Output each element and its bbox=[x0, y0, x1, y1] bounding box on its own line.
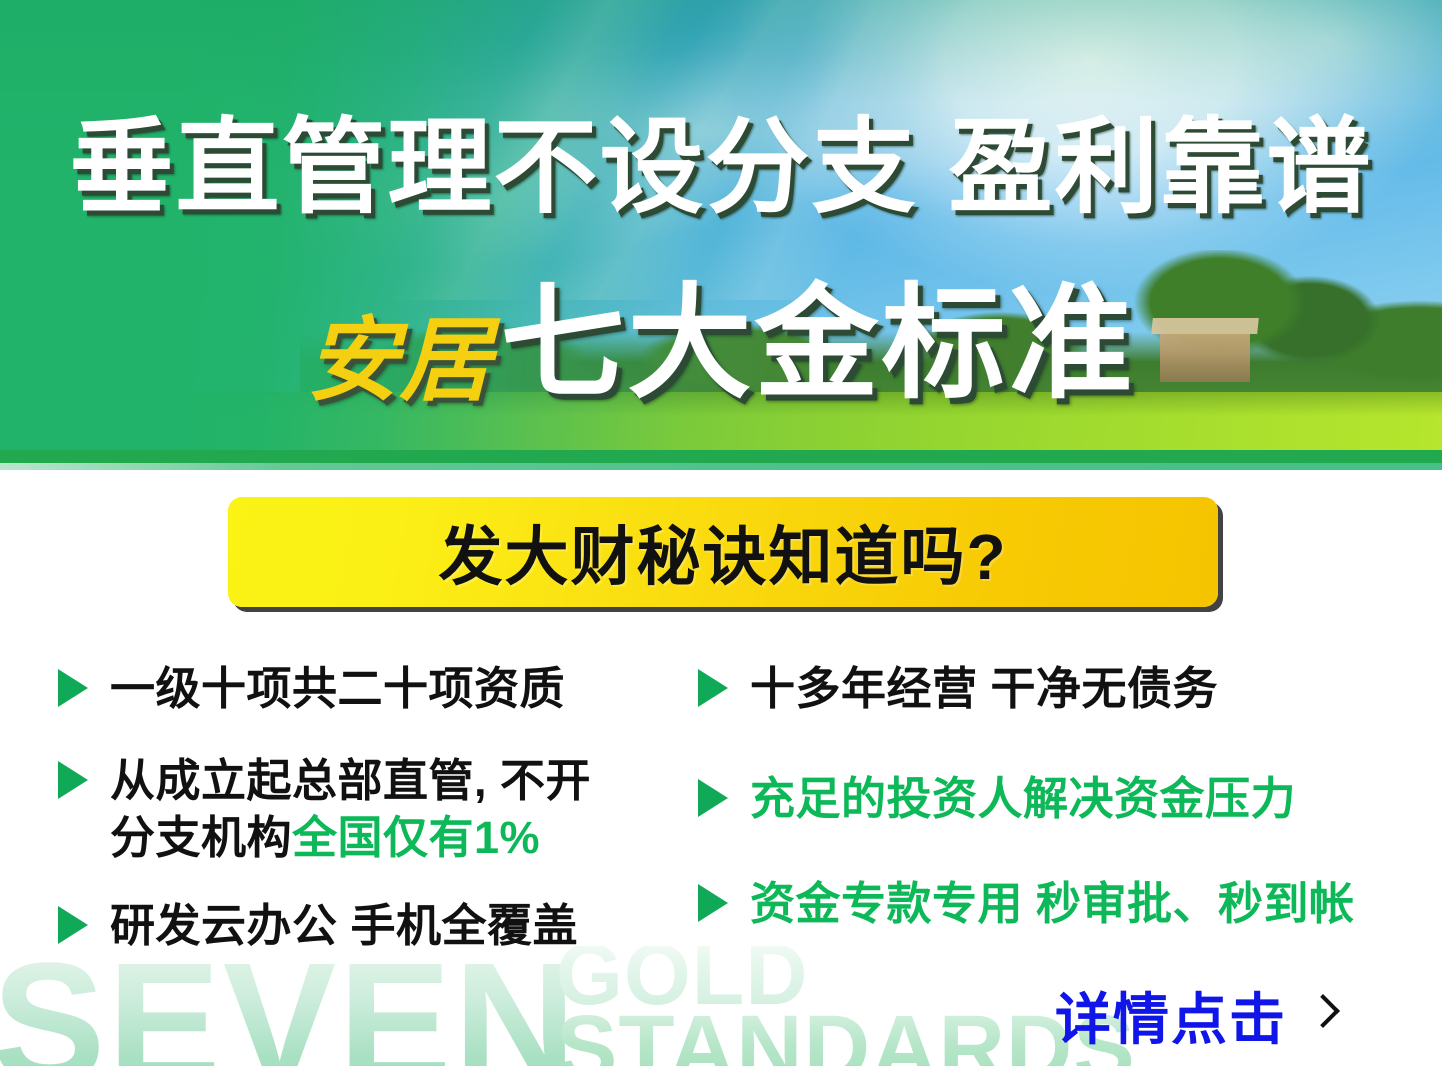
feature-text: 十多年经营 干净无债务 bbox=[750, 660, 1218, 718]
list-item: 研发云办公 手机全覆盖 bbox=[58, 897, 698, 955]
feature-text-line1: 从成立起总部直管, 不开 bbox=[110, 755, 591, 806]
triangle-bullet-icon bbox=[698, 669, 728, 707]
feature-text: 资金专款专用 秒审批、秒到帐 bbox=[750, 875, 1355, 933]
triangle-bullet-icon bbox=[58, 906, 88, 944]
list-item: 十多年经营 干净无债务 bbox=[698, 660, 1418, 718]
hero-banner: 垂直管理不设分支 盈利靠谱 安居七大金标准 bbox=[0, 0, 1442, 470]
green-gradient-overlay bbox=[0, 0, 1442, 470]
triangle-bullet-icon bbox=[58, 669, 88, 707]
feature-column-right: 十多年经营 干净无债务 充足的投资人解决资金压力 资金专款专用 秒审批、秒到帐 bbox=[698, 660, 1418, 959]
watermark-standards-text: STANDARDS bbox=[556, 1011, 1136, 1066]
list-item: 资金专款专用 秒审批、秒到帐 bbox=[698, 875, 1418, 933]
list-item: 充足的投资人解决资金压力 bbox=[698, 770, 1418, 828]
green-divider-band bbox=[0, 450, 1442, 463]
feature-text: 一级十项共二十项资质 bbox=[110, 660, 565, 718]
details-cta-label: 详情点击 bbox=[1055, 975, 1287, 1056]
promo-poster: 垂直管理不设分支 盈利靠谱 安居七大金标准 发大财秘诀知道吗? 一级十项共二十项… bbox=[0, 0, 1442, 1066]
highlight-banner-text: 发大财秘诀知道吗? bbox=[438, 506, 1007, 598]
feature-column-left: 一级十项共二十项资质 从成立起总部直管, 不开 分支机构全国仅有1% 研发云办公… bbox=[58, 660, 698, 980]
feature-text: 从成立起总部直管, 不开 分支机构全国仅有1% bbox=[110, 752, 591, 867]
feature-list: 一级十项共二十项资质 从成立起总部直管, 不开 分支机构全国仅有1% 研发云办公… bbox=[0, 660, 1442, 990]
list-item: 一级十项共二十项资质 bbox=[58, 660, 698, 718]
triangle-bullet-icon bbox=[698, 779, 728, 817]
triangle-bullet-icon bbox=[58, 761, 88, 799]
feature-text: 研发云办公 手机全覆盖 bbox=[110, 897, 578, 955]
feature-text-line2-plain: 分支机构 bbox=[110, 812, 292, 863]
list-item: 从成立起总部直管, 不开 分支机构全国仅有1% bbox=[58, 752, 698, 867]
highlight-banner[interactable]: 发大财秘诀知道吗? bbox=[228, 497, 1218, 607]
triangle-bullet-icon bbox=[698, 884, 728, 922]
details-cta-link[interactable]: 详情点击 bbox=[1055, 975, 1335, 1056]
feature-text: 充足的投资人解决资金压力 bbox=[750, 770, 1296, 828]
mint-divider-band bbox=[0, 463, 1442, 470]
feature-text-line2-highlight: 全国仅有1% bbox=[292, 812, 540, 863]
chevron-right-icon bbox=[1309, 993, 1335, 1039]
